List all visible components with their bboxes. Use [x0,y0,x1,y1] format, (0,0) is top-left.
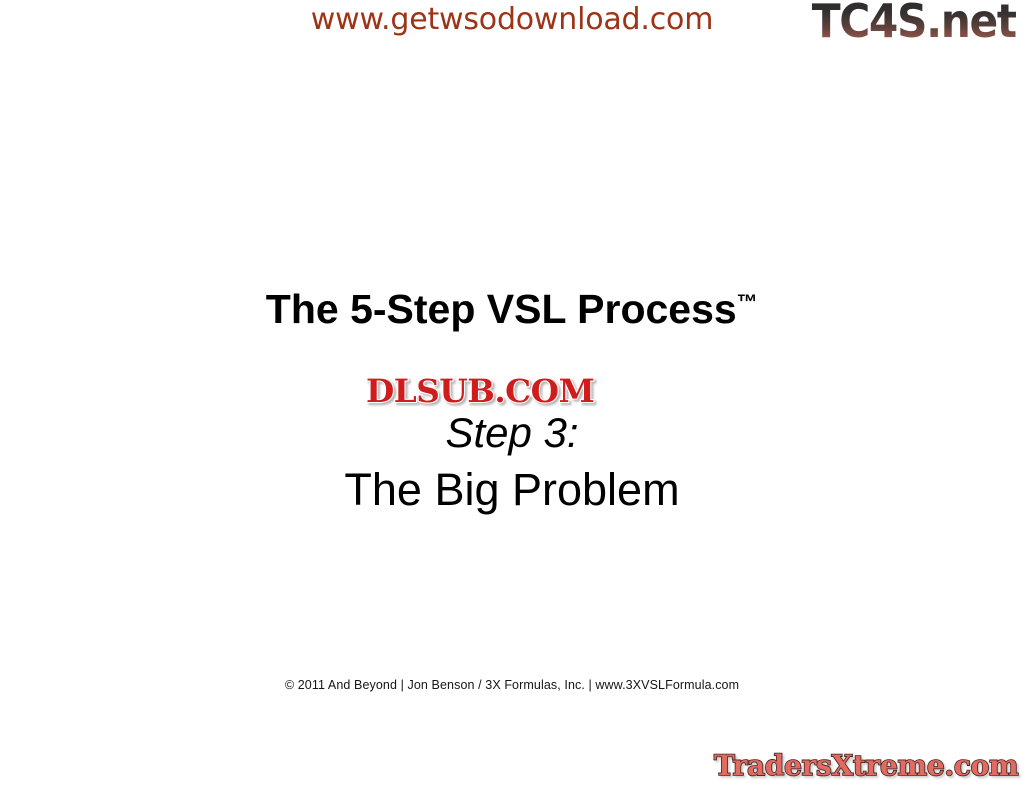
presentation-slide: www.getwsodownload.com TC4S.net TC4S.net… [0,0,1024,791]
trademark-symbol: ™ [737,291,759,314]
copyright-notice: © 2011 And Beyond | Jon Benson / 3X Form… [0,677,1024,693]
tradersxtreme-watermark: TradersXtreme.com [714,750,1018,782]
dlsub-watermark: DLSUB.COM [366,374,594,408]
slide-subtitle-group: Step 3: The Big Problem [0,408,1024,517]
step-number-label: Step 3: [0,408,1024,458]
slide-title-text: The 5-Step VSL Process [266,286,737,332]
tc4s-brand-logo: TC4S.net [812,0,1016,45]
step-name-label: The Big Problem [0,463,1024,517]
slide-title: The 5-Step VSL Process™ [0,279,1024,333]
